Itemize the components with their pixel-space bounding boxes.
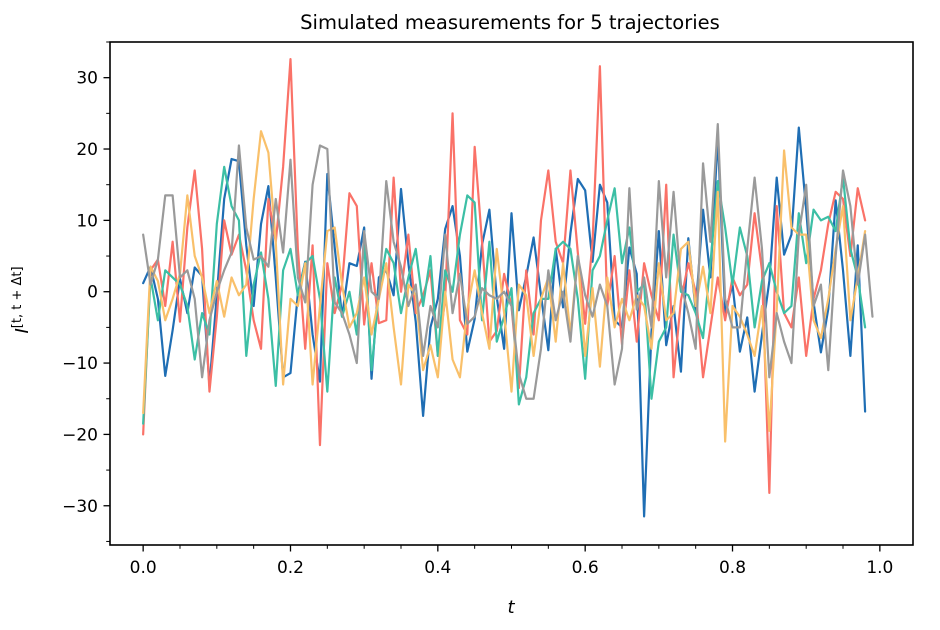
x-axis-label: t [507,597,515,618]
x-tick-label: 0.4 [424,558,451,578]
y-tick-label: 30 [76,69,98,89]
x-tick-label: 0.0 [130,558,157,578]
x-tick-label: 0.8 [719,558,746,578]
y-tick-label: 20 [76,140,98,160]
x-tick-label: 0.6 [572,558,599,578]
figure-canvas: Simulated measurements for 5 trajectorie… [0,0,940,630]
y-tick-label: −10 [62,354,98,374]
y-axis-label-superscript: [t, t + Δt] [10,266,25,328]
x-tick-label: 0.2 [277,558,304,578]
x-tick-label: 1.0 [866,558,893,578]
figure-background [0,0,940,630]
y-tick-label: 0 [87,283,98,303]
y-tick-label: 10 [76,211,98,231]
y-tick-label: −20 [62,425,98,445]
y-tick-label: −30 [62,497,98,517]
chart-title: Simulated measurements for 5 trajectorie… [300,11,720,34]
chart-svg: Simulated measurements for 5 trajectorie… [0,0,940,630]
